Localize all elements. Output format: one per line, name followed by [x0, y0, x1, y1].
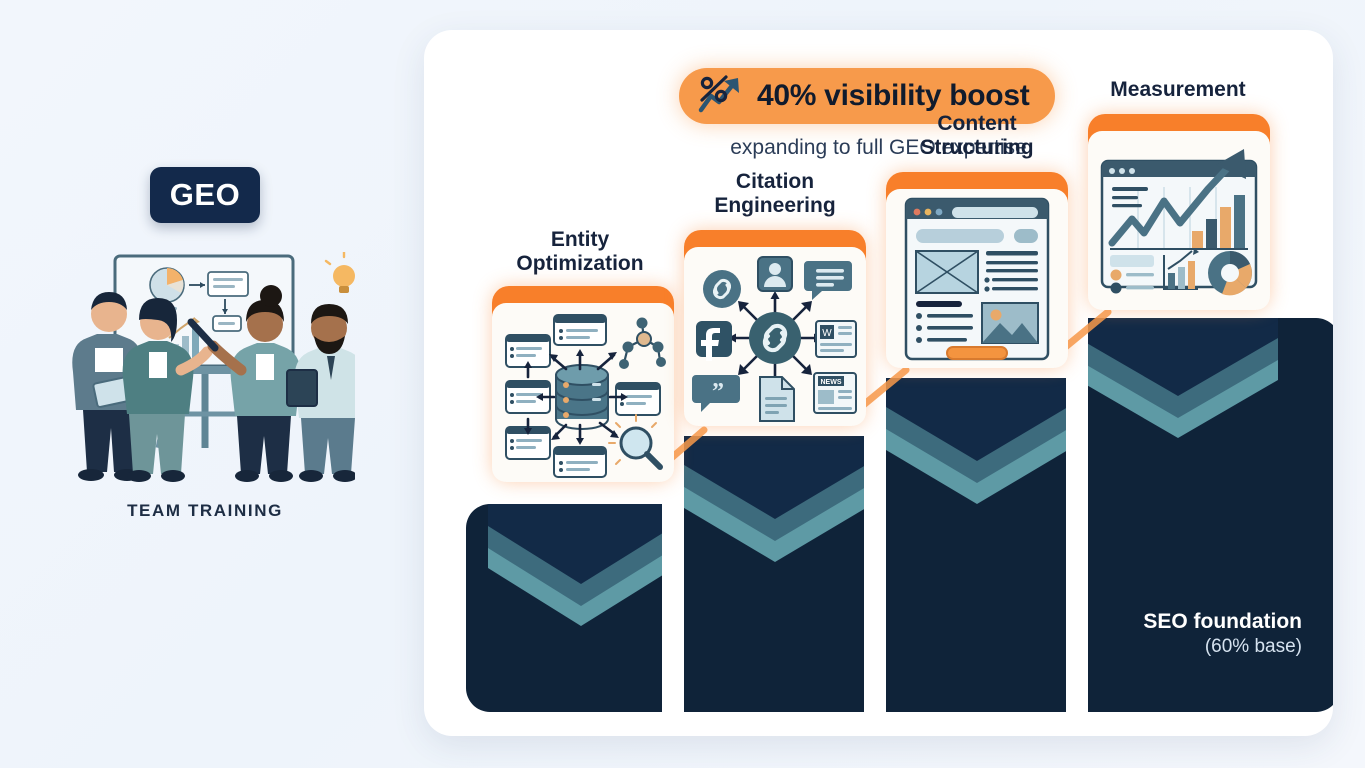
main-panel: 40% visibility boost expanding to full G… — [424, 30, 1333, 736]
step-title-content-structuring: Content Structuring — [876, 112, 1078, 161]
step-title-citation-engineering: Citation Engineering — [674, 170, 876, 219]
left-panel: GEO — [0, 0, 410, 768]
visibility-boost-text: 40% visibility boost — [757, 79, 1029, 113]
cta-button-placeholder — [946, 346, 1008, 360]
step-title-entity-optimization: Entity Optimization — [480, 228, 680, 277]
step-card-citation-engineering: W ” — [684, 230, 866, 426]
step-card-entity-optimization — [492, 286, 674, 482]
geo-badge-label: GEO — [170, 177, 240, 213]
team-training-caption: TEAM TRAINING — [0, 501, 410, 521]
analytics-dashboard-icon — [1088, 131, 1270, 310]
percent-growth-arrow-icon — [697, 74, 745, 119]
svg-text:NEWS: NEWS — [821, 379, 842, 386]
entity-database-network-icon — [492, 303, 674, 482]
citation-link-hub-icon: W ” — [684, 247, 866, 426]
step-title-measurement: Measurement — [1078, 78, 1278, 102]
svg-text:W: W — [822, 328, 832, 339]
webpage-wireframe-icon — [886, 189, 1068, 368]
infographic-canvas: GEO — [0, 0, 1365, 768]
staircase-diagram: Entity Optimization — [466, 212, 1333, 712]
svg-text:”: ” — [712, 379, 724, 405]
foundation-line-2: (60% base) — [1143, 635, 1302, 658]
geo-badge: GEO — [150, 167, 260, 223]
step-card-measurement — [1088, 114, 1270, 310]
team-training-illustration — [55, 252, 355, 487]
step-card-content-structuring — [886, 172, 1068, 368]
foundation-line-1: SEO foundation — [1143, 609, 1302, 635]
seo-foundation-label: SEO foundation (60% base) — [1143, 609, 1302, 658]
